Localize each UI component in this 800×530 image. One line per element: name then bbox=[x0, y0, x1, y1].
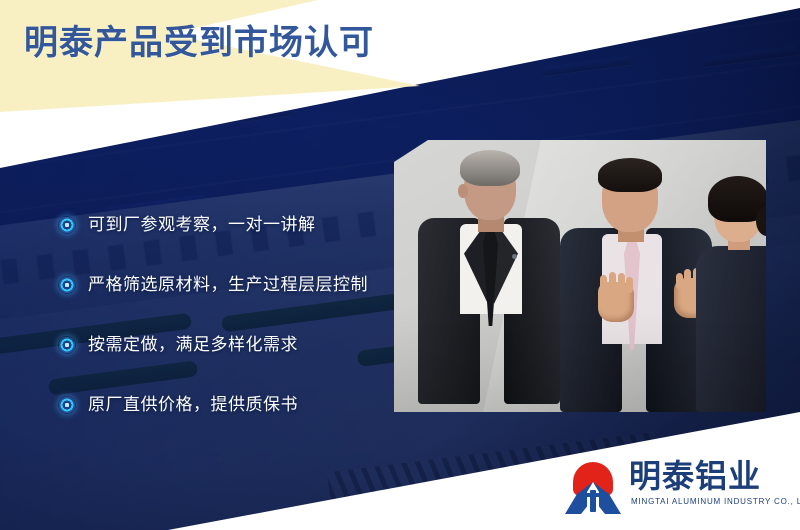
feature-text: 按需定做，满足多样化需求 bbox=[88, 337, 298, 354]
photo-bottom-shadow bbox=[394, 140, 766, 412]
mountain-center-mark bbox=[590, 490, 596, 512]
list-item: 原厂直供价格，提供质保书 bbox=[58, 390, 368, 420]
promo-banner: 明泰产品受到市场认可 可到厂参观考察，一对一讲解 严格筛选原材料，生产过程层层控… bbox=[0, 0, 800, 530]
target-ring-icon bbox=[58, 216, 76, 234]
red-sun-blue-mountain-icon bbox=[565, 462, 621, 514]
feature-list: 可到厂参观考察，一对一讲解 严格筛选原材料，生产过程层层控制 按需定做，满足多样… bbox=[58, 210, 368, 420]
company-name-en: MINGTAI ALUMINUM INDUSTRY CO., LTD bbox=[631, 498, 800, 506]
list-item: 可到厂参观考察，一对一讲解 bbox=[58, 210, 368, 240]
target-ring-icon bbox=[58, 336, 76, 354]
target-ring-icon bbox=[58, 396, 76, 414]
list-item: 严格筛选原材料，生产过程层层控制 bbox=[58, 270, 368, 300]
company-logo: 明泰铝业 MINGTAI ALUMINUM INDUSTRY CO., LTD bbox=[565, 462, 787, 518]
business-people-discussion-photo bbox=[394, 140, 766, 412]
page-title: 明泰产品受到市场认可 bbox=[24, 26, 374, 60]
feature-text: 可到厂参观考察，一对一讲解 bbox=[88, 217, 316, 234]
target-ring-icon bbox=[58, 276, 76, 294]
feature-text: 原厂直供价格，提供质保书 bbox=[88, 397, 298, 414]
company-name-cn: 明泰铝业 bbox=[629, 460, 761, 492]
list-item: 按需定做，满足多样化需求 bbox=[58, 330, 368, 360]
feature-text: 严格筛选原材料，生产过程层层控制 bbox=[88, 277, 368, 294]
